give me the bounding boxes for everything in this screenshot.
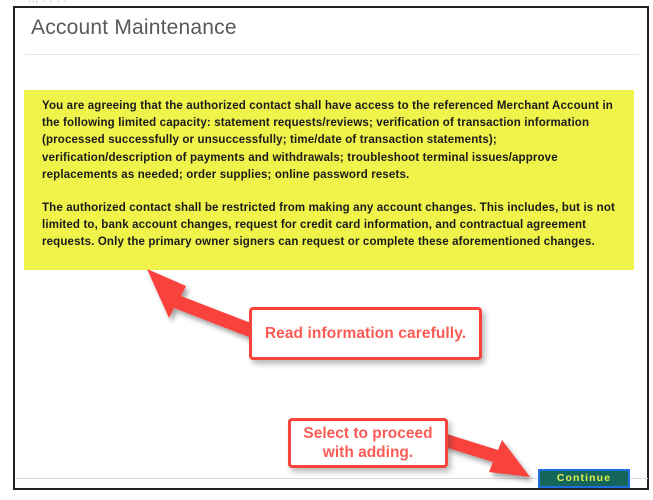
callout-select-line-1: Select to proceed bbox=[303, 424, 432, 443]
callout-select-to-proceed-text: Select to proceed with adding. bbox=[303, 424, 432, 462]
callout-select-line-2: with adding. bbox=[303, 443, 432, 462]
page-title: Account Maintenance bbox=[31, 16, 237, 40]
continue-button[interactable]: Continue bbox=[538, 469, 630, 488]
agreement-text-block: You are agreeing that the authorized con… bbox=[24, 90, 634, 270]
agreement-paragraph-2: The authorized contact shall be restrict… bbox=[42, 200, 622, 252]
callout-select-to-proceed[interactable]: Select to proceed with adding. bbox=[288, 418, 448, 468]
header-divider bbox=[25, 54, 639, 55]
clipped-top-text: .., . . . . bbox=[28, 0, 67, 5]
callout-read-information-text: Read information carefully. bbox=[265, 325, 466, 343]
callout-read-information[interactable]: Read information carefully. bbox=[249, 307, 482, 360]
agreement-paragraph-1: You are agreeing that the authorized con… bbox=[42, 98, 622, 184]
